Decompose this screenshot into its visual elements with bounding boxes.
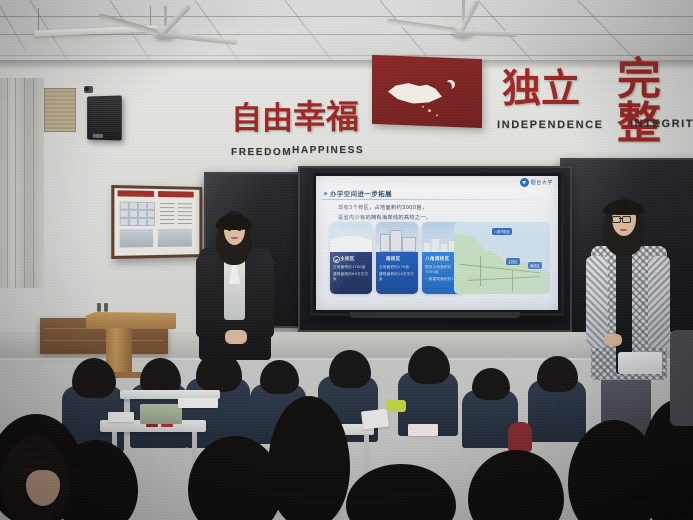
paper-sheet xyxy=(408,424,438,436)
yellow-item xyxy=(386,400,406,412)
slide-title: 办学空间进一步拓展 xyxy=(330,189,392,198)
window-curtain xyxy=(0,78,44,288)
display-stand xyxy=(350,312,520,318)
wall-speaker xyxy=(87,95,122,140)
notice-photo xyxy=(120,229,153,248)
water-bottle xyxy=(104,303,108,312)
glasses-icon xyxy=(612,216,637,223)
light-rod xyxy=(38,8,39,30)
water-bottle xyxy=(97,303,101,312)
slogan-english-integrity: INTEGRITY xyxy=(630,118,693,130)
wall-shadow xyxy=(0,60,693,70)
campus-cards: 主校区 占地面积约1700亩 建筑面积约65万平方米 南校区 占地面积约270亩 xyxy=(330,222,464,294)
map-pin: 主校区 xyxy=(506,258,520,265)
crescent-moon-icon xyxy=(446,80,455,89)
slide-title-rule xyxy=(322,199,552,200)
university-logo xyxy=(520,178,529,187)
island-dot xyxy=(422,106,424,108)
presenter-right-shirt-hem xyxy=(618,352,662,374)
desk-leg xyxy=(364,434,369,476)
red-backpack xyxy=(508,422,532,452)
red-map-banner xyxy=(372,55,482,128)
slide-body-line-2: 是省内少有的拥有海岸线的高校之一。 xyxy=(338,214,431,221)
campus-card-line: 建筑面积约10万平方米 xyxy=(379,272,415,282)
campus-card: 南校区 占地面积约270亩 建筑面积约10万平方米 xyxy=(376,222,418,294)
paper-sheet xyxy=(178,398,218,408)
slogan-english-independence: INDEPENDENCE xyxy=(497,119,604,131)
presenter-left-arm xyxy=(255,256,274,338)
bullet-icon xyxy=(323,191,327,195)
presenter-right-arm xyxy=(586,256,608,348)
university-brand: 烟台大学 xyxy=(520,178,553,187)
campus-location-map: 八角湾校区 主校区 南校区 xyxy=(454,222,550,294)
presenter-left-arm xyxy=(196,256,215,338)
presenter-right-arm xyxy=(648,256,670,348)
slogan-chinese-happiness: 幸福 xyxy=(293,100,359,133)
pencil-pouch xyxy=(140,404,182,424)
slide-body-line-1: 现有3个校区，占地面积约3000亩， xyxy=(338,204,431,211)
student-foreground xyxy=(346,464,456,520)
campus-card-line: 建筑面积约65万平方米 xyxy=(333,272,369,282)
student-foreground xyxy=(468,450,564,520)
campus-card: 主校区 占地面积约1700亩 建筑面积约65万平方米 xyxy=(330,222,372,294)
standing-person-edge xyxy=(670,330,693,426)
slogan-english-freedom: FREEDOM xyxy=(231,147,292,158)
campus-photo xyxy=(330,222,372,252)
campus-card-line: 占地面积约270亩 xyxy=(379,265,415,270)
island-shape xyxy=(388,82,442,105)
presenter-left-hands xyxy=(225,330,247,344)
slide-title-row: 办学空间进一步拓展 xyxy=(324,189,392,198)
university-name: 烟台大学 xyxy=(531,179,553,186)
pen xyxy=(146,424,158,427)
classroom-photo: 自由 FREEDOM 幸福 HAPPINESS 独立 INDEPENDENCE … xyxy=(0,0,693,520)
paper-sheet xyxy=(108,412,134,422)
presenter-right-hand xyxy=(604,334,622,346)
window-blind xyxy=(44,88,76,132)
ceiling-camera xyxy=(84,86,93,93)
slogan-chinese-freedom: 自由 xyxy=(231,104,293,135)
campus-card-title: 南校区 xyxy=(379,256,415,262)
notice-photo xyxy=(158,229,192,247)
slogan-english-happiness: HAPPINESS xyxy=(292,145,364,156)
map-pin: 八角湾校区 xyxy=(492,228,512,235)
campus-card-title: 主校区 xyxy=(333,256,369,262)
paper-sheet xyxy=(361,408,389,429)
notice-header-right xyxy=(158,191,194,198)
slide-body: 现有3个校区，占地面积约3000亩， 是省内少有的拥有海岸线的高校之一。 xyxy=(338,204,431,224)
campus-card-line: 占地面积约1700亩 xyxy=(333,265,369,270)
pen xyxy=(161,424,173,427)
slogan-chinese-integrity: 完整 xyxy=(617,58,693,146)
classroom-notice-board xyxy=(111,185,202,259)
presentation-slide: 烟台大学 办学空间进一步拓展 现有3个校区，占地面积约3000亩， 是省内少有的… xyxy=(316,176,558,310)
slogan-chinese-independence: 独立 xyxy=(502,70,580,109)
island-dot xyxy=(428,109,431,112)
island-dot xyxy=(436,114,438,116)
map-pin: 南校区 xyxy=(528,262,542,269)
interactive-display[interactable]: 烟台大学 办学空间进一步拓展 现有3个校区，占地面积约3000亩， 是省内少有的… xyxy=(310,170,564,316)
notice-header-left xyxy=(118,190,155,197)
campus-photo xyxy=(376,222,418,252)
